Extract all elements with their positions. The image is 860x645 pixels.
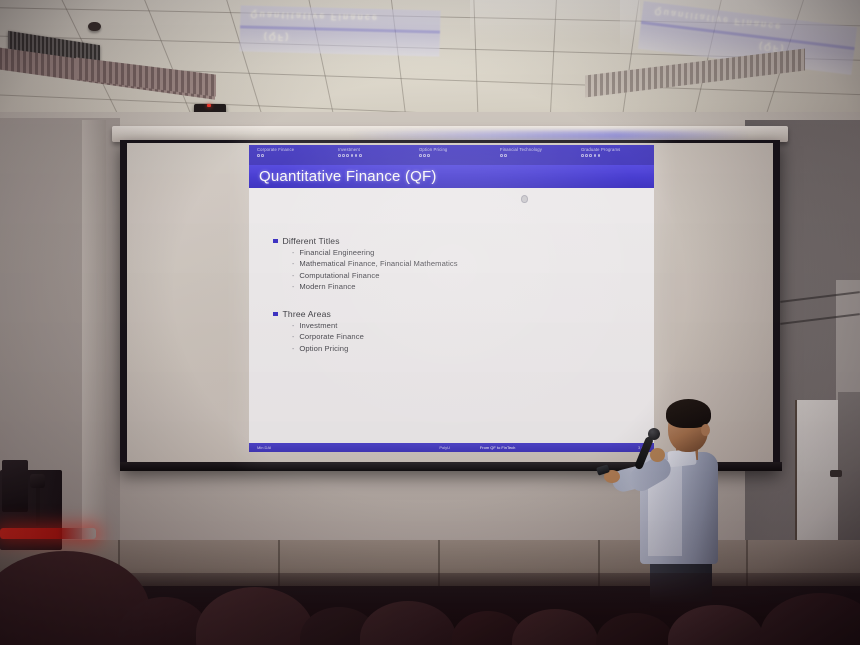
audience-head xyxy=(668,605,764,645)
navbar-dots xyxy=(581,154,654,157)
audience-head xyxy=(760,593,860,645)
dash-icon: - xyxy=(292,261,294,268)
navbar-dots xyxy=(257,154,330,157)
audience-head xyxy=(360,601,456,645)
navbar-section-investment[interactable]: Investment xyxy=(330,147,411,157)
audience-head xyxy=(196,587,314,645)
slide-block-different-titles: Different Titles - Financial Engineering… xyxy=(273,236,458,291)
door-handle[interactable] xyxy=(830,470,842,477)
equipment-red-indicator-light xyxy=(0,528,96,539)
footer-talk-title: From QF to FinTech xyxy=(480,445,516,450)
ceiling-slide-reflection: Quantitative Finance (QF) xyxy=(239,5,440,56)
audience-foreground xyxy=(0,573,860,645)
list-item: - Computational Finance xyxy=(292,271,458,280)
smoke-detector-icon xyxy=(88,22,101,31)
slide-title-bar: Quantitative Finance (QF) xyxy=(249,165,654,188)
list-item-label: Computational Finance xyxy=(299,271,379,280)
audience-head xyxy=(512,609,598,645)
block-heading: Different Titles xyxy=(283,236,340,246)
footer-author: Min DAI xyxy=(257,445,271,450)
dash-icon: - xyxy=(292,323,294,330)
confidence-monitor xyxy=(2,460,28,512)
navbar-section-financial-technology[interactable]: Financial Technology xyxy=(492,147,573,157)
handheld-microphone-head-icon xyxy=(648,428,660,440)
navbar-section-graduate-programs[interactable]: Graduate Programs xyxy=(573,147,654,157)
navbar-label: Option Pricing xyxy=(419,147,492,153)
lecture-hall-scene: Quantitative Finance (QF) Quantitative F… xyxy=(0,0,860,645)
slide-body: Different Titles - Financial Engineering… xyxy=(249,188,654,443)
projected-slide: Corporate Finance Investment Option Pric… xyxy=(249,145,654,452)
projector-led-indicator xyxy=(207,104,211,107)
presenter-right-hand xyxy=(650,448,665,462)
slide-title: Quantitative Finance (QF) xyxy=(249,168,437,185)
mouse-cursor-icon xyxy=(521,195,528,203)
list-item: - Mathematical Finance, Financial Mathem… xyxy=(292,259,458,268)
dash-icon: - xyxy=(292,250,294,257)
navbar-dots xyxy=(338,154,411,157)
list-item-label: Mathematical Finance, Financial Mathemat… xyxy=(299,259,457,268)
list-item: - Option Pricing xyxy=(292,344,364,353)
navbar-section-option-pricing[interactable]: Option Pricing xyxy=(411,147,492,157)
bullet-square-icon xyxy=(273,312,278,317)
list-item: - Modern Finance xyxy=(292,282,458,291)
navbar-dots xyxy=(500,154,573,157)
list-item: - Corporate Finance xyxy=(292,332,364,341)
navbar-section-corporate-finance[interactable]: Corporate Finance xyxy=(249,147,330,157)
navbar-dots xyxy=(419,154,492,157)
list-item-label: Financial Engineering xyxy=(299,248,374,257)
navbar-label: Financial Technology xyxy=(500,147,573,153)
bullet-square-icon xyxy=(273,239,278,244)
dash-icon: - xyxy=(292,284,294,291)
reflection-line-2: (QF) xyxy=(264,32,291,43)
presenter-ear xyxy=(701,424,710,436)
slide-block-three-areas: Three Areas - Investment - Corporate Fin… xyxy=(273,309,364,353)
dash-icon: - xyxy=(292,273,294,280)
footer-institution: PolyU xyxy=(439,445,450,450)
list-item-label: Modern Finance xyxy=(299,282,355,291)
list-item: - Financial Engineering xyxy=(292,248,458,257)
left-wall-column xyxy=(82,120,106,540)
audience-head xyxy=(596,613,674,645)
slide-navbar: Corporate Finance Investment Option Pric… xyxy=(249,145,654,165)
microphone-stand xyxy=(36,484,40,526)
dash-icon: - xyxy=(292,346,294,353)
block-heading: Three Areas xyxy=(283,309,331,319)
navbar-label: Corporate Finance xyxy=(257,147,330,153)
reflection-line-1: Quantitative Finance xyxy=(250,10,379,23)
valance-light-reflection xyxy=(350,131,750,140)
navbar-label: Graduate Programs xyxy=(581,147,654,153)
list-item-label: Investment xyxy=(299,321,337,330)
list-item-label: Corporate Finance xyxy=(299,332,364,341)
slide-footer: Min DAI PolyU From QF to FinTech 3 / 30 xyxy=(249,443,654,452)
list-item-label: Option Pricing xyxy=(299,344,348,353)
dash-icon: - xyxy=(292,334,294,341)
microphone-icon xyxy=(30,474,45,488)
navbar-label: Investment xyxy=(338,147,411,153)
list-item: - Investment xyxy=(292,321,364,330)
